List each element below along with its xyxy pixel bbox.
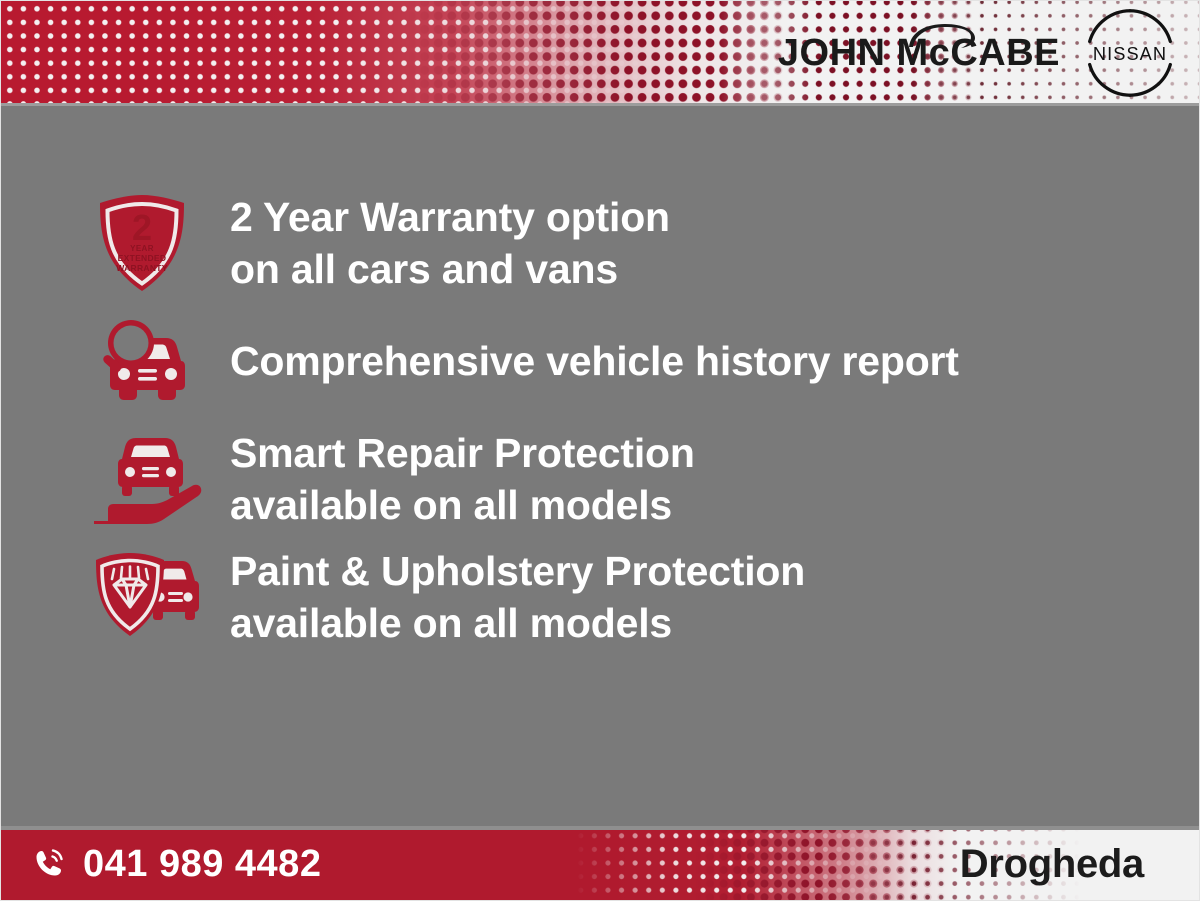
brand-lockup: JOHN McCABE NISSAN bbox=[778, 0, 1178, 106]
feature-label: 2 Year Warranty option on all cars and v… bbox=[230, 191, 670, 296]
svg-text:NISSAN: NISSAN bbox=[1093, 43, 1167, 64]
dealer-promo-banner: JOHN McCABE NISSAN bbox=[0, 0, 1200, 901]
warranty-shield-icon: 2 YEAR EXTENDED WARRANTY bbox=[92, 191, 192, 295]
dealer-location: Drogheda bbox=[960, 826, 1144, 901]
phone-number-text: 041 989 4482 bbox=[83, 845, 321, 883]
feature-icon-slot bbox=[92, 309, 204, 413]
feature-item-smart-repair: Smart Repair Protection available on all… bbox=[0, 420, 1200, 538]
feature-label: Smart Repair Protection available on all… bbox=[230, 427, 695, 532]
feature-icon-slot bbox=[92, 545, 204, 649]
diamond-shield-car-icon bbox=[92, 551, 204, 643]
car-in-hand-icon bbox=[92, 429, 202, 529]
car-magnifier-icon bbox=[92, 315, 196, 407]
feature-icon-slot bbox=[92, 427, 204, 531]
feature-item-warranty: 2 YEAR EXTENDED WARRANTY 2 Year Warranty… bbox=[0, 184, 1200, 302]
dealer-wordmark: JOHN McCABE bbox=[778, 34, 1060, 72]
banner-header: JOHN McCABE NISSAN bbox=[0, 0, 1200, 106]
banner-body: 2 YEAR EXTENDED WARRANTY 2 Year Warranty… bbox=[0, 106, 1200, 826]
svg-text:2: 2 bbox=[132, 207, 152, 248]
feature-label: Comprehensive vehicle history report bbox=[230, 335, 959, 387]
nissan-logo-icon: NISSAN bbox=[1082, 5, 1178, 101]
svg-text:EXTENDED: EXTENDED bbox=[118, 253, 167, 263]
feature-icon-slot: 2 YEAR EXTENDED WARRANTY bbox=[92, 191, 204, 295]
dealer-name-text: JOHN McCABE bbox=[778, 32, 1060, 74]
feature-label: Paint & Upholstery Protection available … bbox=[230, 545, 805, 650]
svg-text:WARRANTY: WARRANTY bbox=[116, 263, 168, 273]
banner-footer: 041 989 4482 Drogheda bbox=[0, 826, 1200, 901]
svg-text:YEAR: YEAR bbox=[130, 244, 154, 253]
feature-item-history-report: Comprehensive vehicle history report bbox=[0, 302, 1200, 420]
feature-list: 2 YEAR EXTENDED WARRANTY 2 Year Warranty… bbox=[0, 106, 1200, 656]
phone-call-icon bbox=[30, 846, 66, 882]
feature-item-paint-protection: Paint & Upholstery Protection available … bbox=[0, 538, 1200, 656]
phone-contact[interactable]: 041 989 4482 bbox=[30, 826, 321, 901]
